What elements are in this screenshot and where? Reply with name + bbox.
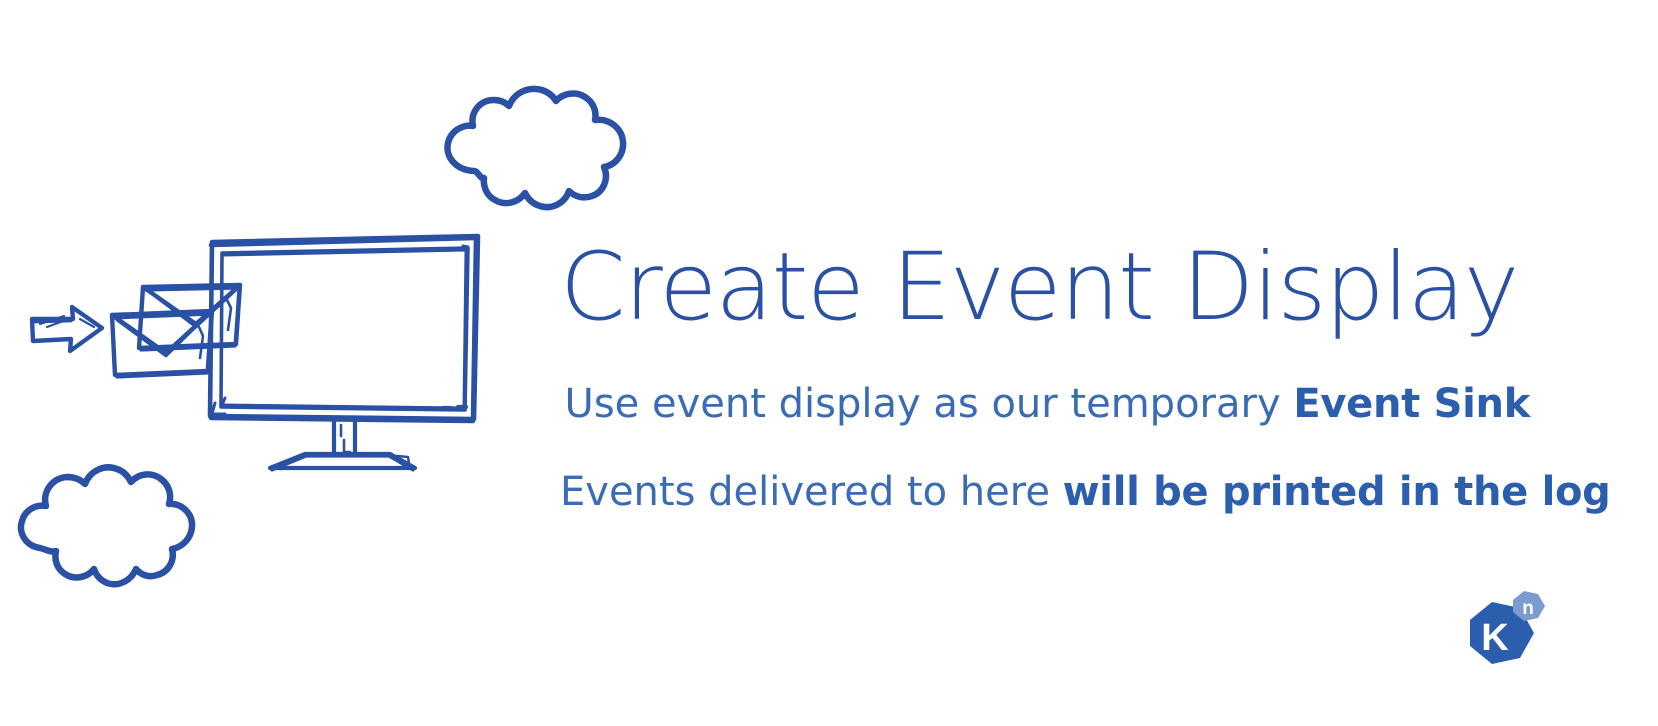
text-block: Create Event Display Use event display a…	[560, 240, 1530, 516]
monitor-icon	[210, 236, 478, 421]
knative-letter-n: n	[1522, 598, 1534, 619]
subtitle-line-2: Events delivered to here will be printed…	[560, 468, 1530, 516]
knative-letter-k: K	[1481, 617, 1509, 659]
subtitle-2-emphasis: will be printed in the log	[1063, 469, 1611, 515]
monitor-stand-icon	[334, 419, 355, 455]
monitor-base-icon	[270, 454, 415, 470]
subtitle-2-plain: Events delivered to here	[560, 469, 1063, 515]
envelope-front-icon	[112, 311, 212, 377]
slide-canvas: Create Event Display Use event display a…	[0, 0, 1658, 726]
arrow-right-icon	[32, 307, 102, 351]
page-title: Create Event Display	[560, 240, 1530, 336]
knative-logo: K n	[1450, 588, 1550, 680]
subtitle-line-1: Use event display as our temporary Event…	[560, 380, 1530, 428]
subtitle-1-plain: Use event display as our temporary	[565, 381, 1294, 427]
subtitle-1-emphasis: Event Sink	[1293, 381, 1530, 427]
cloud-bottom-icon	[21, 467, 192, 584]
envelope-back-icon	[139, 285, 240, 350]
cloud-top-icon	[447, 89, 623, 207]
